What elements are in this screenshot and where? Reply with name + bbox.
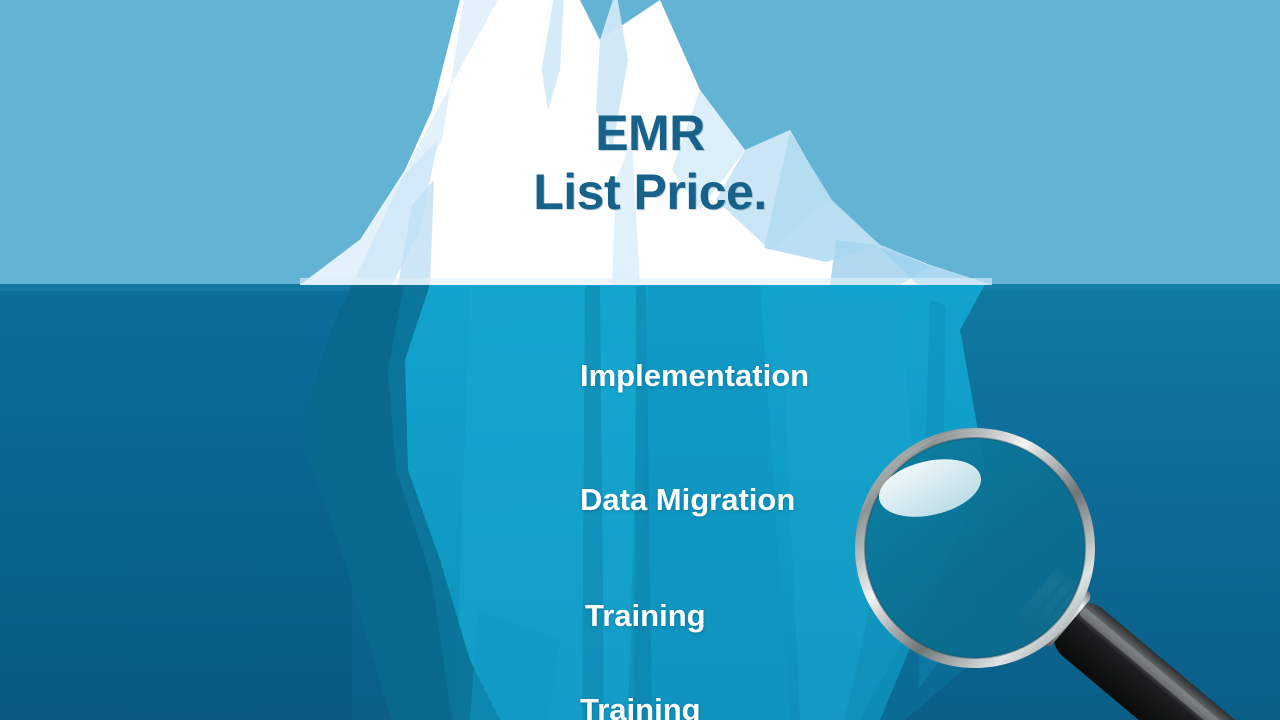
water-left-deep xyxy=(0,284,352,720)
page-title-line-2: List Price. xyxy=(430,163,870,222)
iceberg-infographic: EMR List Price. Implementation Data Migr… xyxy=(0,0,1280,720)
hidden-cost-label-training-1: Training xyxy=(585,600,706,631)
hidden-cost-label-training-2: Training xyxy=(580,694,701,720)
page-title: EMR List Price. xyxy=(430,104,870,222)
page-title-line-1: EMR xyxy=(430,104,870,163)
hidden-cost-label-data-migration: Data Migration xyxy=(580,484,795,515)
hidden-cost-label-implementation: Implementation xyxy=(580,360,809,391)
